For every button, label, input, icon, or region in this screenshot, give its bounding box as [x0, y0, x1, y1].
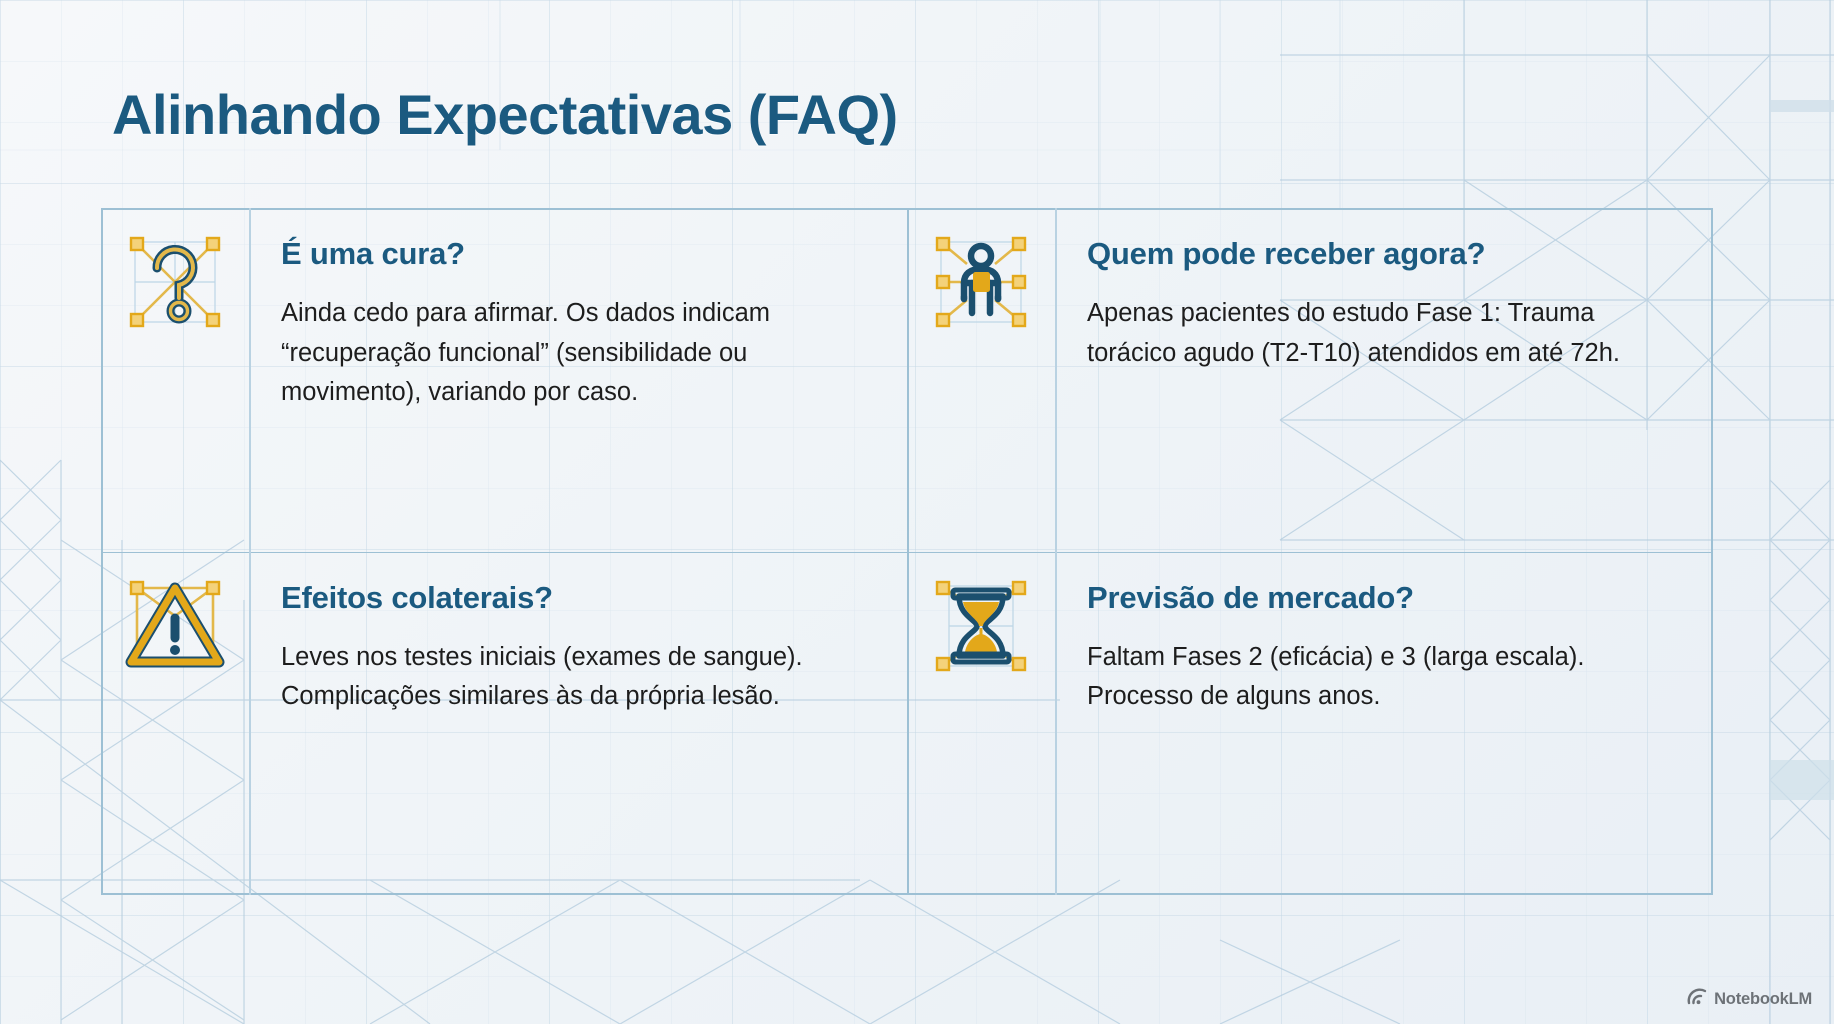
faq-row: Efeitos colaterais? Leves nos testes ini…	[101, 552, 1713, 896]
faq-body: Ainda cedo para afirmar. Os dados indica…	[281, 294, 871, 413]
faq-cell-text: Efeitos colaterais? Leves nos testes ini…	[249, 552, 907, 717]
faq-body: Apenas pacientes do estudo Fase 1: Traum…	[1087, 294, 1677, 373]
faq-row: É uma cura? Ainda cedo para afirmar. Os …	[101, 208, 1713, 552]
warning-triangle-icon	[101, 552, 249, 896]
faq-title: Quem pode receber agora?	[1087, 236, 1677, 272]
faq-cell-previsao-de-mercado[interactable]: Previsão de mercado? Faltam Fases 2 (efi…	[907, 552, 1713, 896]
faq-cell-text: Quem pode receber agora? Apenas paciente…	[1055, 208, 1713, 373]
faq-title: Efeitos colaterais?	[281, 580, 871, 616]
question-mark-icon	[101, 208, 249, 552]
faq-body: Leves nos testes iniciais (exames de san…	[281, 638, 871, 717]
faq-cell-text: Previsão de mercado? Faltam Fases 2 (efi…	[1055, 552, 1713, 717]
notebooklm-watermark: NotebookLM	[1687, 988, 1812, 1010]
faq-grid: É uma cura? Ainda cedo para afirmar. Os …	[101, 208, 1713, 895]
faq-body: Faltam Fases 2 (eficácia) e 3 (larga esc…	[1087, 638, 1677, 717]
notebooklm-label: NotebookLM	[1714, 990, 1812, 1009]
page-title: Alinhando Expectativas (FAQ)	[112, 82, 898, 147]
faq-title: É uma cura?	[281, 236, 871, 272]
faq-cell-e-uma-cura[interactable]: É uma cura? Ainda cedo para afirmar. Os …	[101, 208, 907, 552]
slide-canvas: Alinhando Expectativas (FAQ)	[0, 0, 1834, 1024]
faq-cell-efeitos-colaterais[interactable]: Efeitos colaterais? Leves nos testes ini…	[101, 552, 907, 896]
faq-cell-quem-pode-receber[interactable]: Quem pode receber agora? Apenas paciente…	[907, 208, 1713, 552]
faq-cell-text: É uma cura? Ainda cedo para afirmar. Os …	[249, 208, 907, 413]
faq-title: Previsão de mercado?	[1087, 580, 1677, 616]
person-body-icon	[907, 208, 1055, 552]
notebooklm-logo-icon	[1687, 988, 1707, 1010]
hourglass-icon	[907, 552, 1055, 896]
